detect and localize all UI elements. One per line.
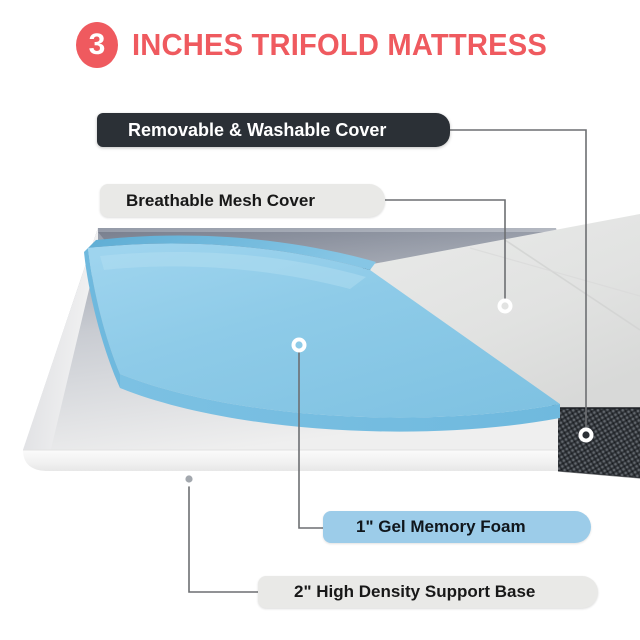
callout-mesh-label: Breathable Mesh Cover <box>126 191 315 211</box>
mattress-infographic: 3 INCHES TRIFOLD MATTRESS <box>0 0 640 640</box>
breathable-mesh-band <box>558 408 640 478</box>
callout-gel-memory-foam[interactable]: 1" Gel Memory Foam <box>323 511 591 543</box>
callout-removable-washable-cover[interactable]: Removable & Washable Cover <box>97 113 450 147</box>
callout-base-label: 2" High Density Support Base <box>294 582 535 602</box>
callout-removable-label: Removable & Washable Cover <box>128 120 386 141</box>
mattress-illustration <box>0 0 640 640</box>
callout-gel-label: 1" Gel Memory Foam <box>356 517 526 537</box>
callout-high-density-support-base[interactable]: 2" High Density Support Base <box>258 576 598 608</box>
leader-line-base <box>189 484 266 592</box>
callout-breathable-mesh-cover[interactable]: Breathable Mesh Cover <box>100 184 385 217</box>
